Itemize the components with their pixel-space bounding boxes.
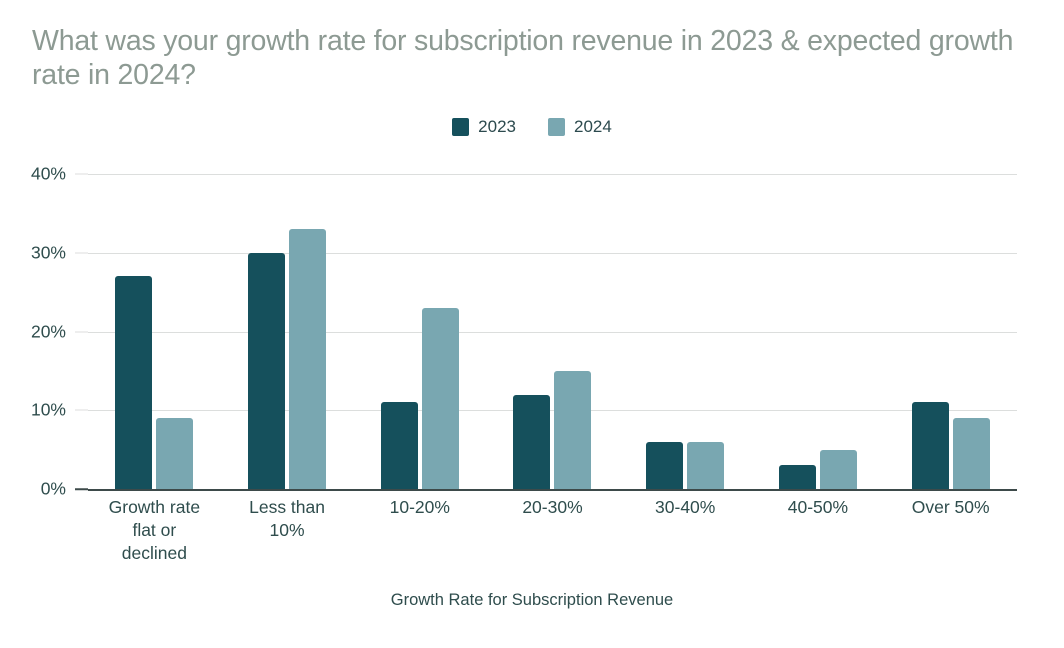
chart-title: What was your growth rate for subscripti…	[32, 24, 1017, 92]
x-axis-label: Over 50%	[884, 496, 1017, 519]
bar-2023[interactable]	[115, 276, 152, 489]
y-axis-tick-label: 10%	[31, 400, 66, 421]
y-axis-tick-label: 30%	[31, 242, 66, 263]
bar-2024[interactable]	[156, 418, 193, 489]
bar-2023[interactable]	[513, 395, 550, 490]
x-axis-label: 30-40%	[619, 496, 752, 519]
x-axis-label: 20-30%	[486, 496, 619, 519]
x-axis-label: Less than 10%	[221, 496, 354, 542]
y-axis-tick-label: 0%	[41, 479, 66, 500]
bar-2024[interactable]	[554, 371, 591, 489]
bar-2024[interactable]	[289, 229, 326, 489]
gridline-0%	[88, 489, 1017, 491]
legend-item-2023[interactable]: 2023	[452, 117, 516, 137]
bar-2023[interactable]	[912, 402, 949, 489]
y-axis-tick-label: 40%	[31, 164, 66, 185]
bar-group	[353, 174, 486, 489]
x-axis-label: 40-50%	[752, 496, 885, 519]
y-axis-tick-mark	[75, 252, 88, 253]
y-axis-tick-mark	[75, 410, 88, 411]
chart-legend: 2023 2024	[0, 117, 1064, 137]
bar-2023[interactable]	[248, 253, 285, 489]
legend-item-2024[interactable]: 2024	[548, 117, 612, 137]
bar-2024[interactable]	[820, 450, 857, 489]
legend-label-2024: 2024	[574, 117, 612, 137]
bar-group	[884, 174, 1017, 489]
bar-chart: What was your growth rate for subscripti…	[0, 0, 1064, 648]
bar-2024[interactable]	[953, 418, 990, 489]
y-axis-tick-mark	[75, 331, 88, 332]
bar-2023[interactable]	[779, 465, 816, 489]
legend-swatch-icon-2023	[452, 118, 469, 136]
bar-group	[752, 174, 885, 489]
legend-swatch-icon-2024	[548, 118, 565, 136]
bar-group	[619, 174, 752, 489]
y-axis-tick-label: 20%	[31, 321, 66, 342]
y-axis-tick-mark	[75, 174, 88, 175]
x-axis-label: 10-20%	[353, 496, 486, 519]
x-axis-category-labels: Growth rate flat or declinedLess than 10…	[88, 496, 1017, 576]
bar-group	[486, 174, 619, 489]
bar-group	[221, 174, 354, 489]
x-axis-label: Growth rate flat or declined	[88, 496, 221, 565]
legend-label-2023: 2023	[478, 117, 516, 137]
plot-area-bars	[88, 174, 1017, 489]
y-axis-tick-mark	[75, 488, 88, 490]
bar-2023[interactable]	[381, 402, 418, 489]
bar-2023[interactable]	[646, 442, 683, 489]
bar-2024[interactable]	[422, 308, 459, 489]
bar-group	[88, 174, 221, 489]
x-axis-title: Growth Rate for Subscription Revenue	[0, 591, 1064, 610]
bar-2024[interactable]	[687, 442, 724, 489]
y-axis: 0%10%20%30%40%	[0, 174, 88, 489]
